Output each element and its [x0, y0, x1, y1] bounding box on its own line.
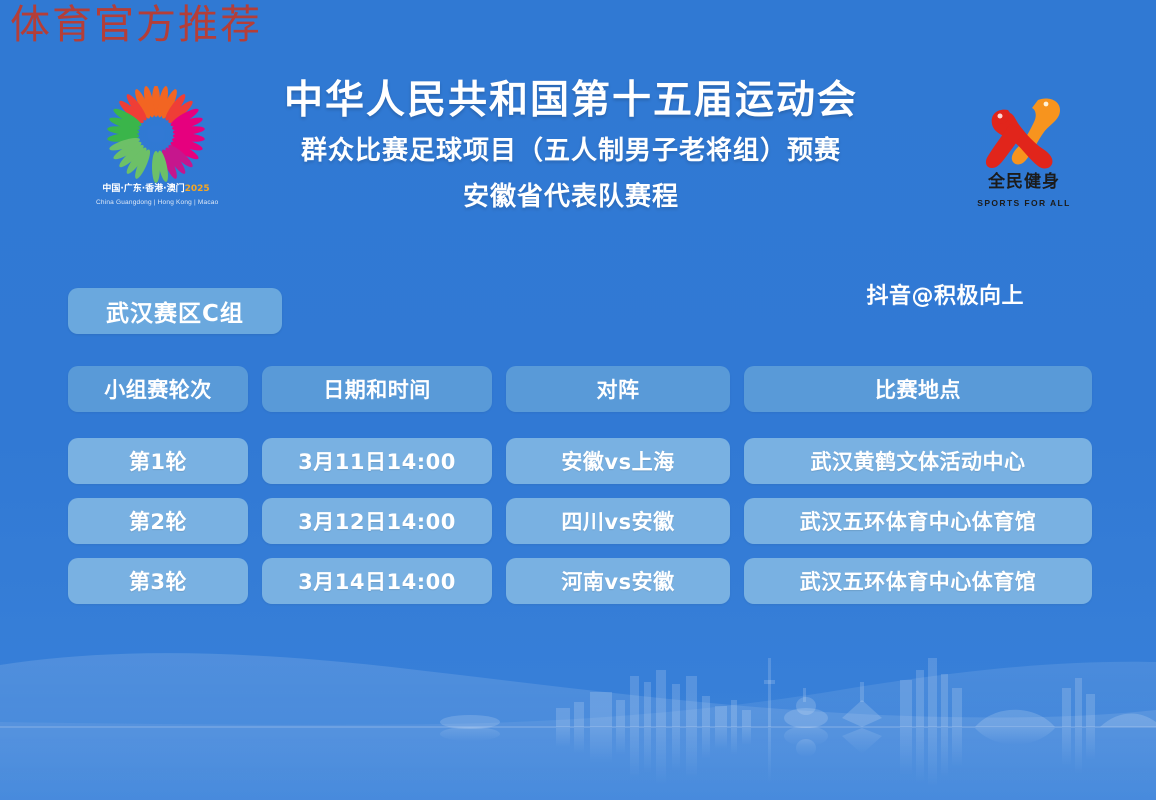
- emblem-left-en-text: China Guangdong | Hong Kong | Macao: [96, 199, 216, 206]
- sports-for-all-cn-text: 全民健身: [964, 167, 1084, 192]
- sports-for-all-emblem: 全民健身 SPORTS FOR ALL: [964, 84, 1084, 214]
- column-header-round: 小组赛轮次: [68, 366, 248, 412]
- cell-round: 第3轮: [68, 558, 248, 604]
- table-row: 第2轮 3月12日14:00 四川vs安徽 武汉五环体育中心体育馆: [68, 498, 1090, 544]
- sports-for-all-en-text: SPORTS FOR ALL: [964, 198, 1084, 208]
- cell-venue: 武汉五环体育中心体育馆: [744, 558, 1092, 604]
- poster-subtitle: 群众比赛足球项目（五人制男子老将组）预赛: [218, 135, 924, 168]
- table-row: 第1轮 3月11日14:00 安徽vs上海 武汉黄鹤文体活动中心: [68, 438, 1090, 484]
- cell-round: 第1轮: [68, 438, 248, 484]
- schedule-table: 小组赛轮次 日期和时间 对阵 比赛地点 第1轮 3月11日14:00 安徽vs上…: [68, 366, 1090, 618]
- emblem-left-cn-text: 中国·广东·香港·澳门2025: [96, 181, 216, 194]
- poster-team-title: 安徽省代表队赛程: [218, 181, 924, 214]
- cell-venue: 武汉五环体育中心体育馆: [744, 498, 1092, 544]
- watermark-text: 体育官方推荐: [10, 2, 262, 48]
- cell-datetime: 3月14日14:00: [262, 558, 492, 604]
- poster-header: 中国·广东·香港·澳门2025 China Guangdong | Hong K…: [0, 78, 1156, 268]
- table-row: 第3轮 3月14日14:00 河南vs安徽 武汉五环体育中心体育馆: [68, 558, 1090, 604]
- cell-round: 第2轮: [68, 498, 248, 544]
- column-header-venue: 比赛地点: [744, 366, 1092, 412]
- title-block: 中华人民共和国第十五届运动会 群众比赛足球项目（五人制男子老将组）预赛 安徽省代…: [218, 78, 924, 214]
- city-skyline-silhouette: [440, 658, 1156, 729]
- fifteenth-national-games-emblem: 中国·广东·香港·澳门2025 China Guangdong | Hong K…: [96, 86, 216, 214]
- bottom-scenery-decoration: [0, 610, 1156, 800]
- column-header-matchup: 对阵: [506, 366, 730, 412]
- social-handle: 抖音@积极向上: [866, 278, 1024, 310]
- group-badge: 武汉赛区C组: [68, 288, 282, 334]
- poster-canvas: 体育官方推荐: [0, 0, 1156, 800]
- skyline-reflection: [440, 726, 1095, 788]
- games-emblem-burst-icon: [96, 86, 216, 186]
- cell-datetime: 3月12日14:00: [262, 498, 492, 544]
- poster-main-title: 中华人民共和国第十五届运动会: [218, 78, 924, 125]
- cell-matchup: 四川vs安徽: [506, 498, 730, 544]
- cell-datetime: 3月11日14:00: [262, 438, 492, 484]
- column-header-datetime: 日期和时间: [262, 366, 492, 412]
- cell-venue: 武汉黄鹤文体活动中心: [744, 438, 1092, 484]
- table-header-row: 小组赛轮次 日期和时间 对阵 比赛地点: [68, 366, 1090, 412]
- cell-matchup: 河南vs安徽: [506, 558, 730, 604]
- cell-matchup: 安徽vs上海: [506, 438, 730, 484]
